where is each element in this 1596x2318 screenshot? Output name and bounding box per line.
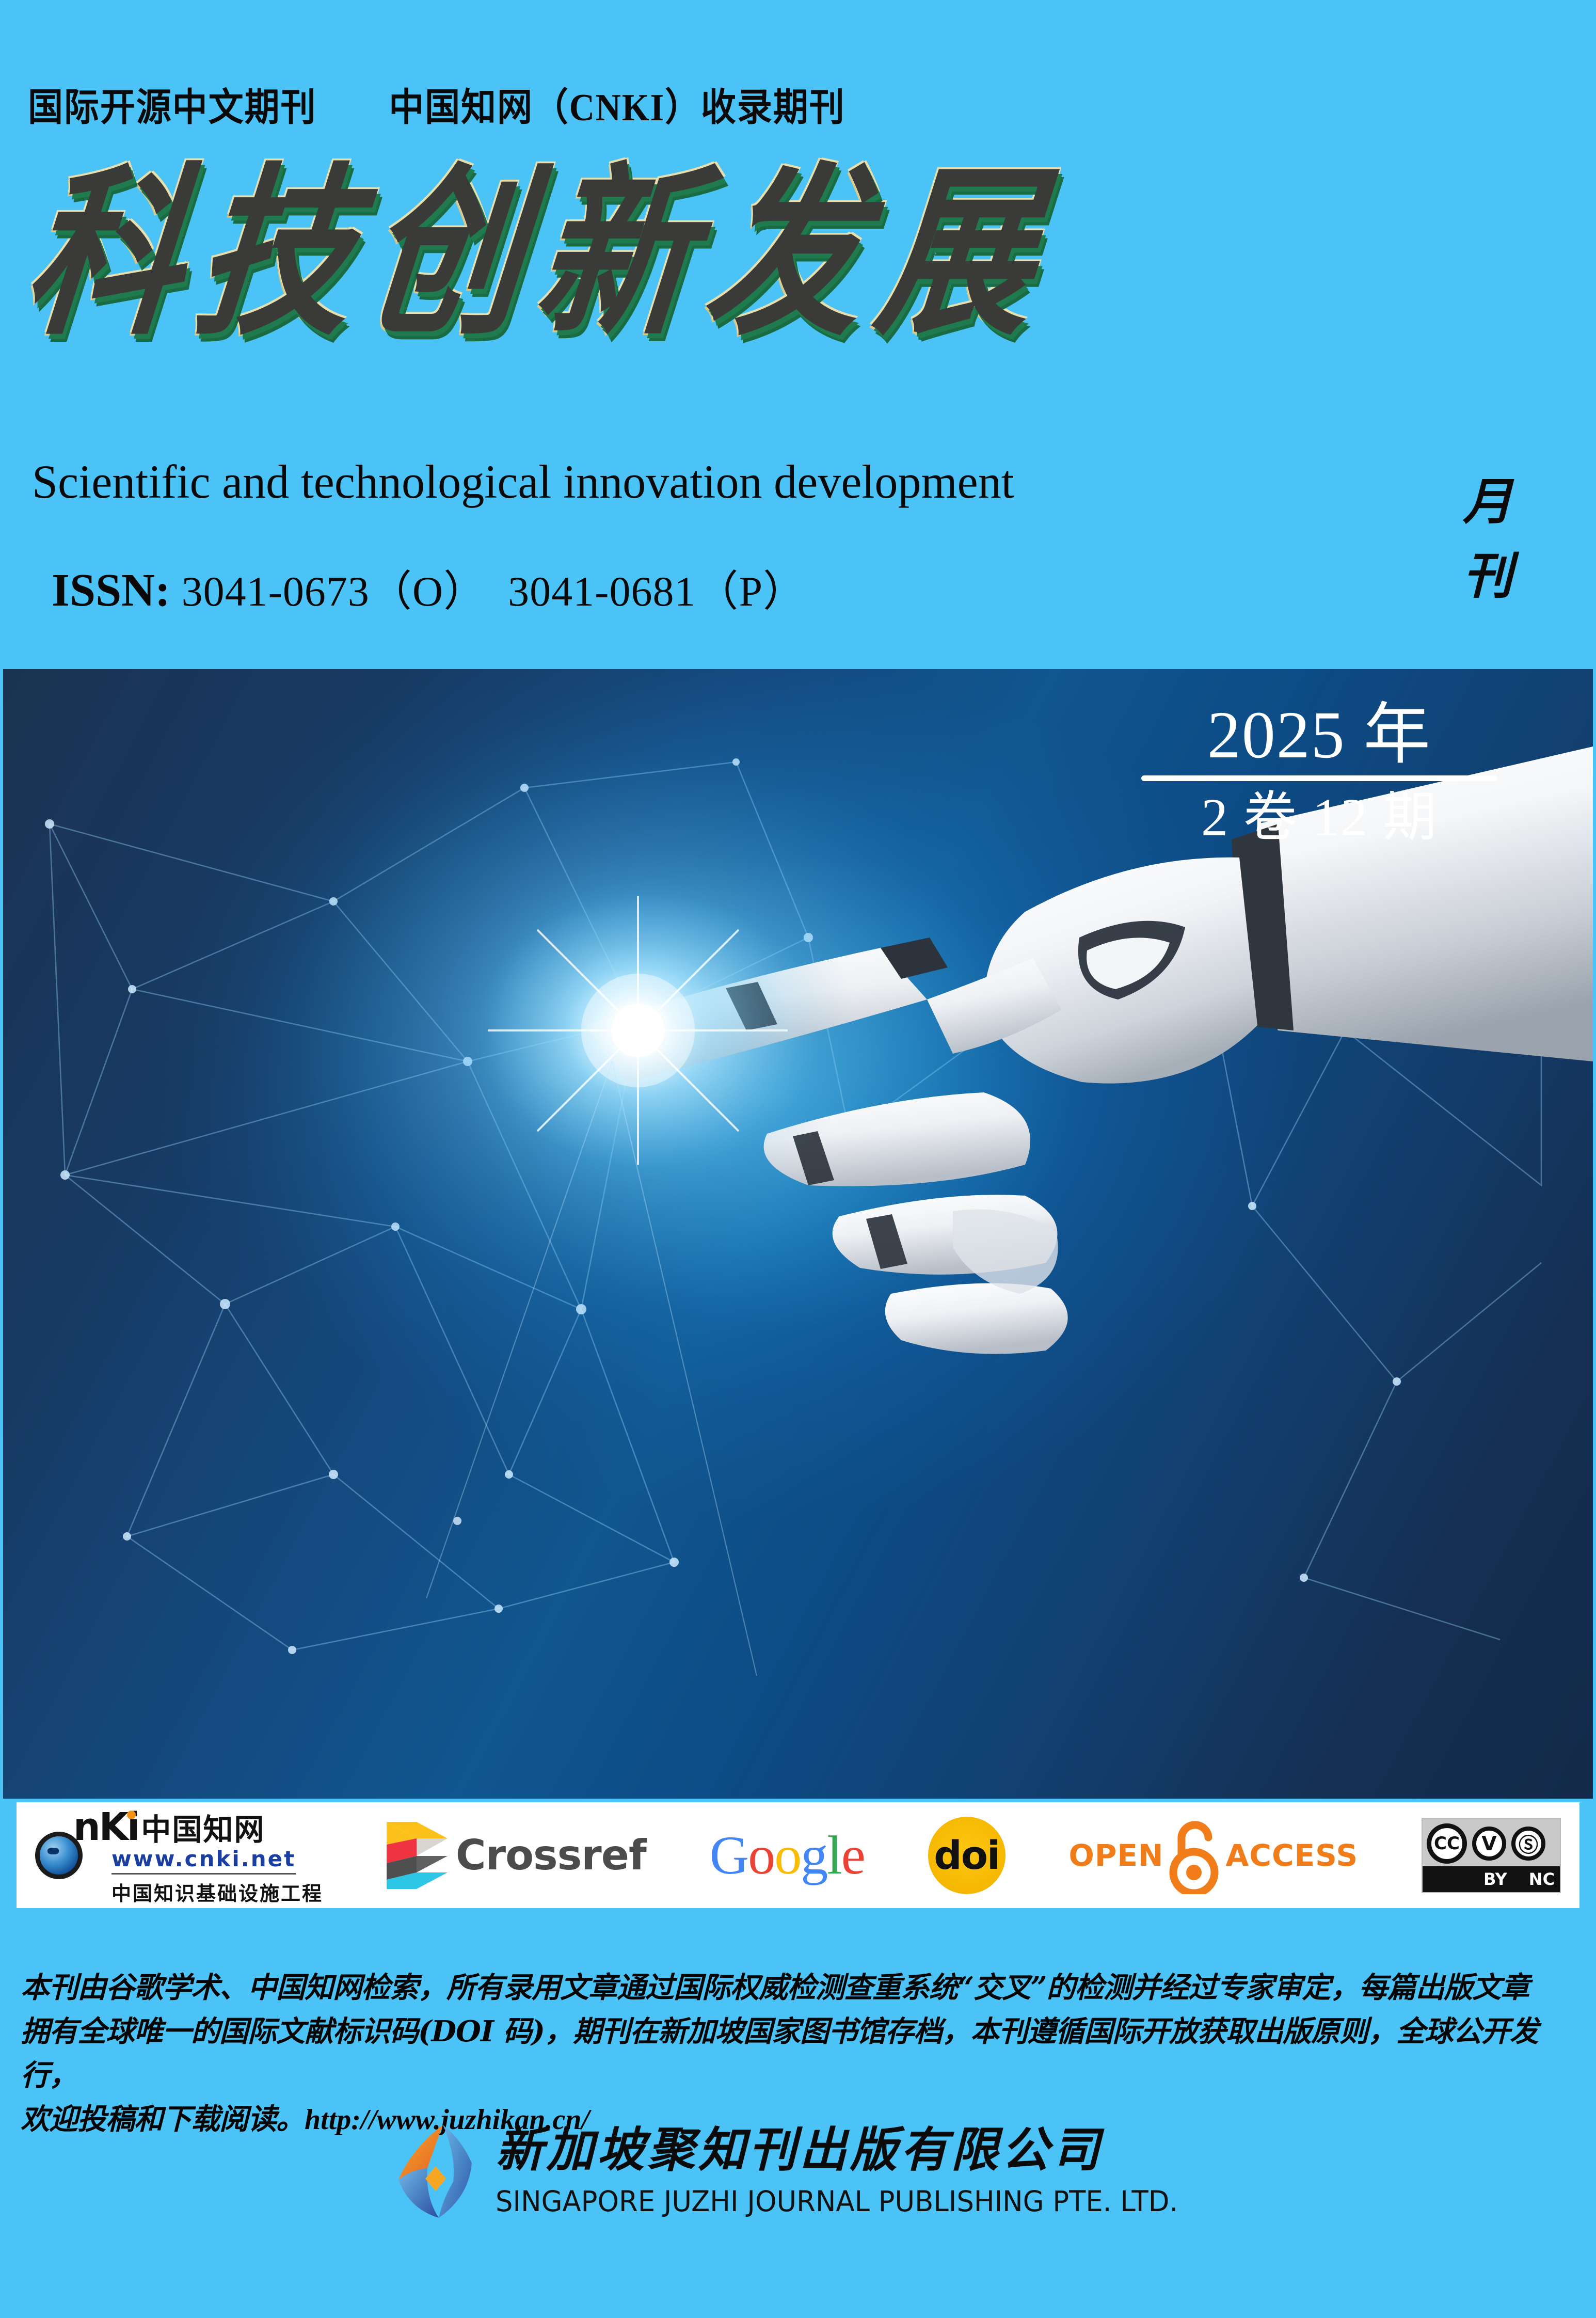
cover-photo: 2025 年 2 卷 12 期 [3, 669, 1593, 1799]
cnki-url: www.cnki.net [111, 1846, 296, 1875]
indexing-logo-bar: nKi 中国知网 www.cnki.net 中国知识基础设施工程 [17, 1802, 1579, 1908]
doi-oval-icon: doi [928, 1817, 1006, 1894]
footer-statement: 本刊由谷歌学术、中国知网检索，所有录用文章通过国际权威检测查重系统“交叉”的检测… [21, 1966, 1575, 2142]
journal-cover: 国际开源中文期刊 中国知网（CNKI）收录期刊 科技创新发展 Scientifi… [0, 0, 1596, 2318]
google-letter-l: l [827, 1825, 841, 1885]
crossref-wordmark: Crossref [456, 1831, 646, 1879]
cc-nc-label: NC [1529, 1869, 1555, 1889]
issue-volume-number: 2 卷 12 期 [1113, 788, 1526, 847]
crossref-chevron-icon [387, 1822, 449, 1889]
doi-logo[interactable]: doi [928, 1817, 1006, 1894]
footer-note-line-2: 拥有全球唯一的国际文献标识码(DOI 码)，期刊在新加坡国家图书馆存档，本刊遵循… [21, 2010, 1575, 2098]
publication-frequency: 月 刊 [1451, 465, 1524, 613]
google-letter-g1: G [710, 1825, 748, 1885]
indexing-statement: 国际开源中文期刊 中国知网（CNKI）收录期刊 [28, 76, 845, 132]
issn-value: 3041-0673（O） 3041-0681（P） [182, 568, 806, 615]
cc-by-person-icon: Ⅴ [1472, 1827, 1506, 1861]
cc-icon: CC [1427, 1823, 1467, 1864]
publisher-logo-icon [389, 2122, 482, 2220]
frequency-char-month: 月 [1451, 465, 1524, 539]
google-letter-e: e [841, 1825, 865, 1885]
open-access-logo[interactable]: OPEN ACCESS [1069, 1817, 1359, 1894]
cnki-logo[interactable]: nKi 中国知网 www.cnki.net 中国知识基础设施工程 [35, 1805, 323, 1906]
doi-label: doi [934, 1832, 999, 1878]
google-letter-o1: o [748, 1825, 774, 1885]
publisher-block: 新加坡聚知刊出版有限公司 SINGAPORE JUZHI JOURNAL PUB… [0, 2122, 1596, 2220]
cc-by-label: BY [1483, 1869, 1507, 1889]
open-access-open-label: OPEN [1069, 1838, 1164, 1873]
cnki-subtitle: 中国知识基础设施工程 [111, 1878, 323, 1906]
issn-line: ISSN: 3041-0673（O） 3041-0681（P） [52, 557, 806, 618]
issn-label: ISSN: [52, 565, 170, 616]
issue-year: 2025 年 [1113, 700, 1526, 771]
journal-title-english: Scientific and technological innovation … [32, 454, 1014, 509]
globe-icon [35, 1832, 83, 1879]
issue-info: 2025 年 2 卷 12 期 [1113, 700, 1526, 847]
open-access-access-label: ACCESS [1226, 1838, 1359, 1873]
journal-title-chinese: 科技创新发展 [14, 162, 1256, 381]
issue-divider [1141, 775, 1497, 781]
cover-header: 国际开源中文期刊 中国知网（CNKI）收录期刊 科技创新发展 Scientifi… [0, 0, 1596, 669]
frequency-char-issue: 刊 [1451, 539, 1524, 613]
google-letter-g2: g [801, 1825, 827, 1885]
cc-nc-nocommercial-icon: Ⓢ [1511, 1827, 1545, 1861]
open-lock-icon [1168, 1817, 1222, 1894]
crossref-logo[interactable]: Crossref [387, 1822, 646, 1889]
creative-commons-badge[interactable]: CC Ⅴ Ⓢ BY NC [1422, 1818, 1561, 1893]
google-letter-o2: o [774, 1825, 801, 1885]
footer-note-line-1: 本刊由谷歌学术、中国知网检索，所有录用文章通过国际权威检测查重系统“交叉”的检测… [21, 1966, 1575, 2010]
publisher-name-english: SINGAPORE JUZHI JOURNAL PUBLISHING PTE. … [496, 2185, 1178, 2218]
publisher-name-chinese: 新加坡聚知刊出版有限公司 [496, 2124, 1103, 2176]
google-logo[interactable]: Google [710, 1824, 865, 1887]
cnki-chinese-name: 中国知网 [141, 1805, 265, 1849]
